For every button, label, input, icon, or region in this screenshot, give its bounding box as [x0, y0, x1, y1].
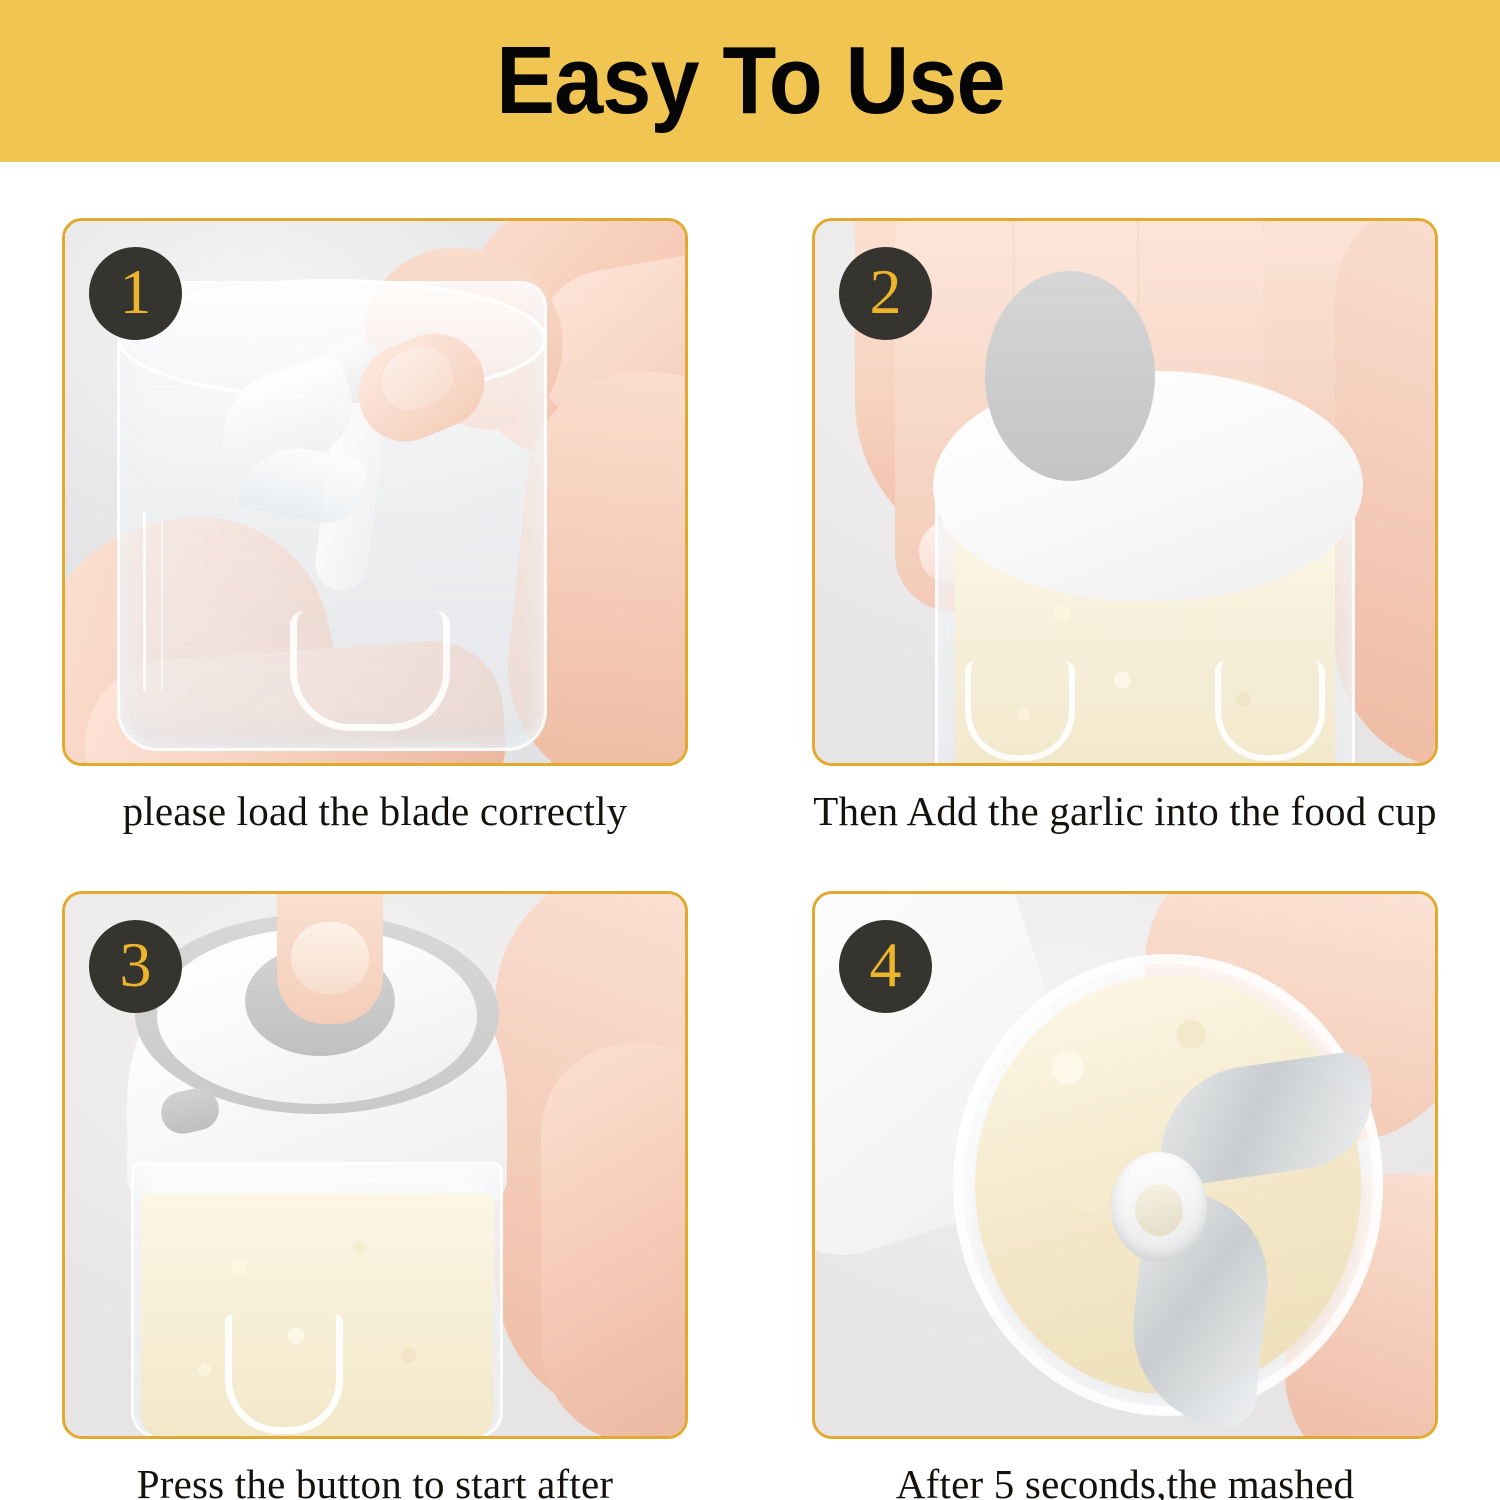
caption-line: After 5 seconds,the mashed — [812, 1461, 1438, 1500]
caption-line: Then Add the garlic into the food cup — [812, 788, 1438, 835]
caption-line: please load the blade correctly — [62, 788, 688, 835]
step-cell-4: 4 After 5 seconds,the mashed garlic is r… — [750, 835, 1500, 1500]
step-card-4: 4 — [812, 891, 1438, 1439]
step-card-2: 2 — [812, 218, 1438, 766]
step-cell-2: 2 Then Add the garlic into the food cup — [750, 162, 1500, 835]
step-number-2: 2 — [870, 260, 902, 324]
infographic-page: Easy To Use — [0, 0, 1500, 1500]
caption-line: Press the button to start after — [62, 1461, 688, 1500]
step-card-3: 3 — [62, 891, 688, 1439]
page-title: Easy To Use — [496, 33, 1005, 129]
step-number-4: 4 — [870, 933, 902, 997]
step-caption-1: please load the blade correctly — [62, 788, 688, 835]
steps-grid: 1 please load the blade correctly — [0, 162, 1500, 1500]
step-card-1: 1 — [62, 218, 688, 766]
header-banner: Easy To Use — [0, 0, 1500, 162]
step-number-3: 3 — [120, 933, 152, 997]
step-badge-4: 4 — [839, 920, 932, 1013]
step-caption-2: Then Add the garlic into the food cup — [812, 788, 1438, 835]
step-cell-1: 1 please load the blade correctly — [0, 162, 750, 835]
step-cell-3: 3 Press the button to start after closin… — [0, 835, 750, 1500]
step-caption-4: After 5 seconds,the mashed garlic is rea… — [812, 1461, 1438, 1500]
step-caption-3: Press the button to start after closing … — [62, 1461, 688, 1500]
step-badge-2: 2 — [839, 247, 932, 340]
step-badge-3: 3 — [89, 920, 182, 1013]
step-number-1: 1 — [120, 260, 152, 324]
step-badge-1: 1 — [89, 247, 182, 340]
